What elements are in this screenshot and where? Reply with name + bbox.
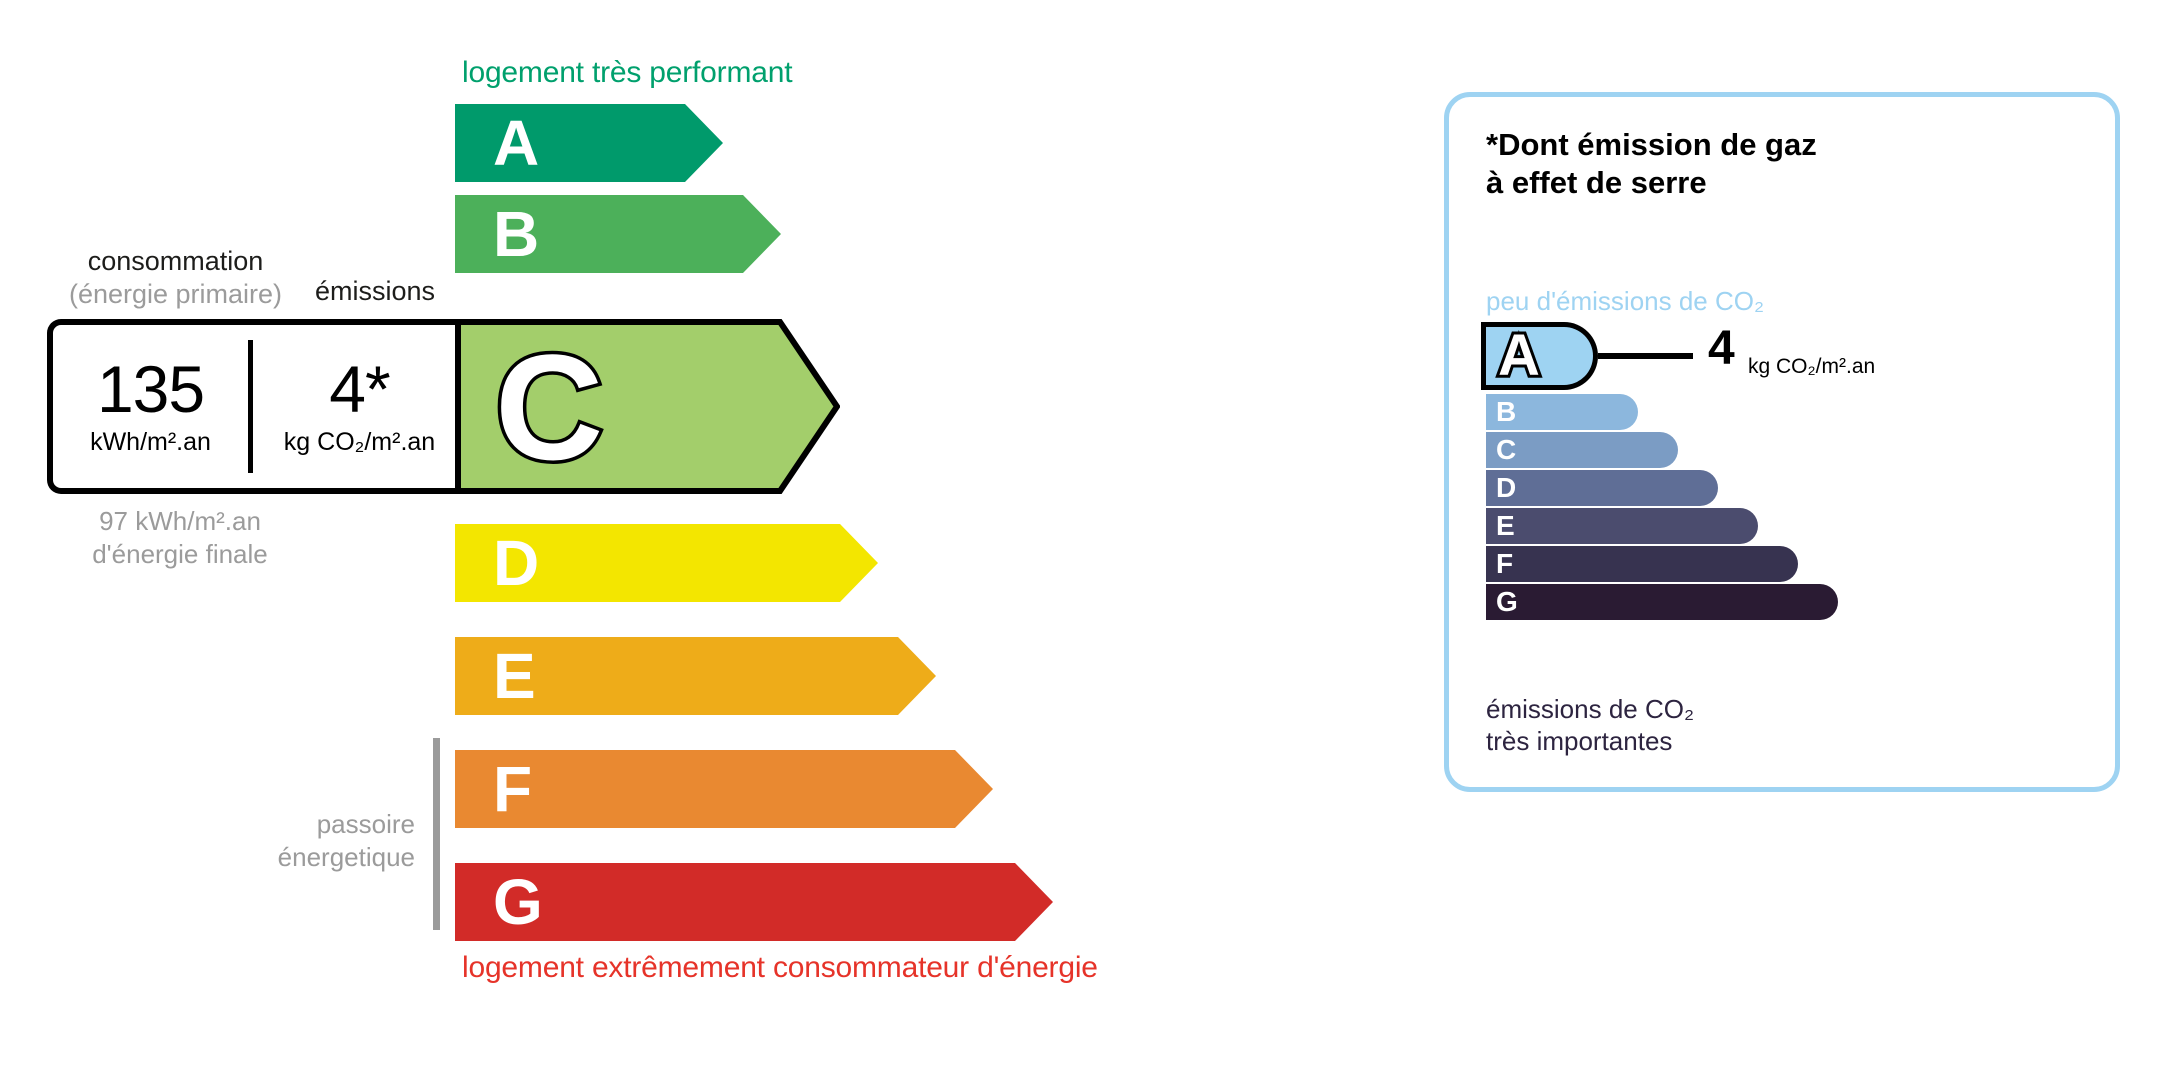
consumption-heading: consommation (énergie primaire) [53,245,298,311]
energy-class-row-e: E [455,637,936,715]
co2-card-title-line2: à effet de serre [1486,164,1817,202]
co2-class-letter-a: A [1498,327,1540,385]
co2-card-title: *Dont émission de gaz à effet de serre [1486,126,1817,202]
co2-class-letter-e: E [1496,512,1515,540]
passoire-label: passoire énergetique [205,808,415,873]
energy-scale-bottom-label: logement extrêmement consommateur d'éner… [462,951,1098,985]
co2-class-letter-g: G [1496,588,1518,616]
energy-class-letter-a: A [493,111,539,175]
emissions-heading: émissions [300,276,450,307]
energy-class-row-b: B [455,195,781,273]
energy-arrow-f [455,750,993,828]
energy-class-row-g: G [455,863,1053,941]
consumption-unit: kWh/m².an [90,428,211,457]
emissions-value: 4* [329,356,389,422]
energy-class-row-a: A [455,104,723,182]
co2-value: 4 [1708,325,1735,373]
co2-bar-e [1486,508,1758,544]
energy-scale-top-label: logement très performant [462,56,792,90]
consumption-value-cell: 135 kWh/m².an [53,325,248,488]
co2-connector-line [1598,353,1693,359]
consumption-value: 135 [97,356,204,422]
co2-emissions-card: *Dont émission de gaz à effet de serre p… [1444,92,2120,792]
energy-class-letter-e: E [493,644,536,708]
final-energy-value: 97 kWh/m².an [55,505,305,538]
energy-performance-diagram: logement très performant consommation (é… [0,0,1400,1079]
co2-class-letter-f: F [1496,550,1513,578]
co2-bottom-label-line1: émissions de CO₂ [1486,693,1694,725]
value-box: 135 kWh/m².an 4* kg CO₂/m².an [47,319,467,494]
passoire-label-line1: passoire [205,808,415,841]
co2-bottom-label-line2: très importantes [1486,725,1694,757]
energy-class-letter-f: F [493,757,532,821]
consumption-heading-main: consommation [88,246,264,276]
co2-class-letter-b: B [1496,398,1516,426]
co2-bar-g [1486,584,1838,620]
emissions-value-cell: 4* kg CO₂/m².an [248,340,466,473]
emissions-unit: kg CO₂/m².an [284,428,435,457]
co2-top-label: peu d'émissions de CO₂ [1486,286,1764,317]
final-energy-note: 97 kWh/m².an d'énergie finale [55,505,305,570]
co2-bar-d [1486,470,1718,506]
energy-arrow-g [455,863,1053,941]
final-energy-label: d'énergie finale [55,538,305,571]
co2-card-title-line1: *Dont émission de gaz [1486,126,1817,164]
energy-class-row-f: F [455,750,993,828]
co2-class-letter-c: C [1496,436,1516,464]
consumption-heading-sub: (énergie primaire) [53,278,298,311]
passoire-label-line2: énergetique [205,841,415,874]
co2-bar-f [1486,546,1798,582]
passoire-bracket [433,738,440,930]
energy-class-letter-d: D [493,531,539,595]
energy-class-letter-c: C [495,332,603,482]
energy-class-row-d: D [455,524,878,602]
energy-class-letter-g: G [493,870,543,934]
co2-bottom-label: émissions de CO₂ très importantes [1486,693,1694,757]
co2-class-letter-d: D [1496,474,1516,502]
energy-class-letter-b: B [493,202,539,266]
co2-value-unit: kg CO₂/m².an [1748,355,1875,379]
energy-class-row-c: C [455,319,840,494]
